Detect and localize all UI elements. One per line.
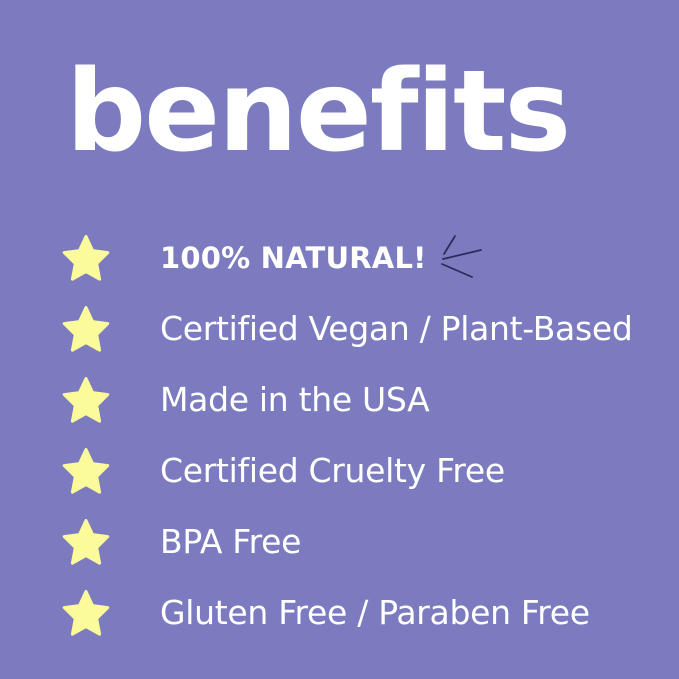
list-item: Gluten Free / Paraben Free <box>0 577 679 648</box>
star-icon <box>62 448 110 494</box>
star-icon <box>62 235 110 281</box>
list-item: Made in the USA <box>0 364 679 435</box>
list-item: Certified Vegan / Plant-Based <box>0 293 679 364</box>
star-icon <box>62 306 110 352</box>
list-item: BPA Free <box>0 506 679 577</box>
list-item-label: 100% NATURAL! <box>160 240 427 276</box>
benefits-card: benefits 100% NATURAL! Certified Vegan /… <box>0 0 679 679</box>
list-item-label: Made in the USA <box>160 382 429 418</box>
list-item: 100% NATURAL! <box>0 222 679 293</box>
list-item-label: BPA Free <box>160 524 301 560</box>
star-icon <box>62 377 110 423</box>
star-icon <box>62 519 110 565</box>
star-icon <box>62 590 110 636</box>
list-item-label: Gluten Free / Paraben Free <box>160 595 590 631</box>
page-title: benefits <box>66 56 569 168</box>
sparkle-icon <box>441 230 489 286</box>
list-item-label: Certified Vegan / Plant-Based <box>160 311 633 347</box>
benefits-list: 100% NATURAL! Certified Vegan / Plant-Ba… <box>0 222 679 648</box>
list-item-label: Certified Cruelty Free <box>160 453 505 489</box>
list-item: Certified Cruelty Free <box>0 435 679 506</box>
